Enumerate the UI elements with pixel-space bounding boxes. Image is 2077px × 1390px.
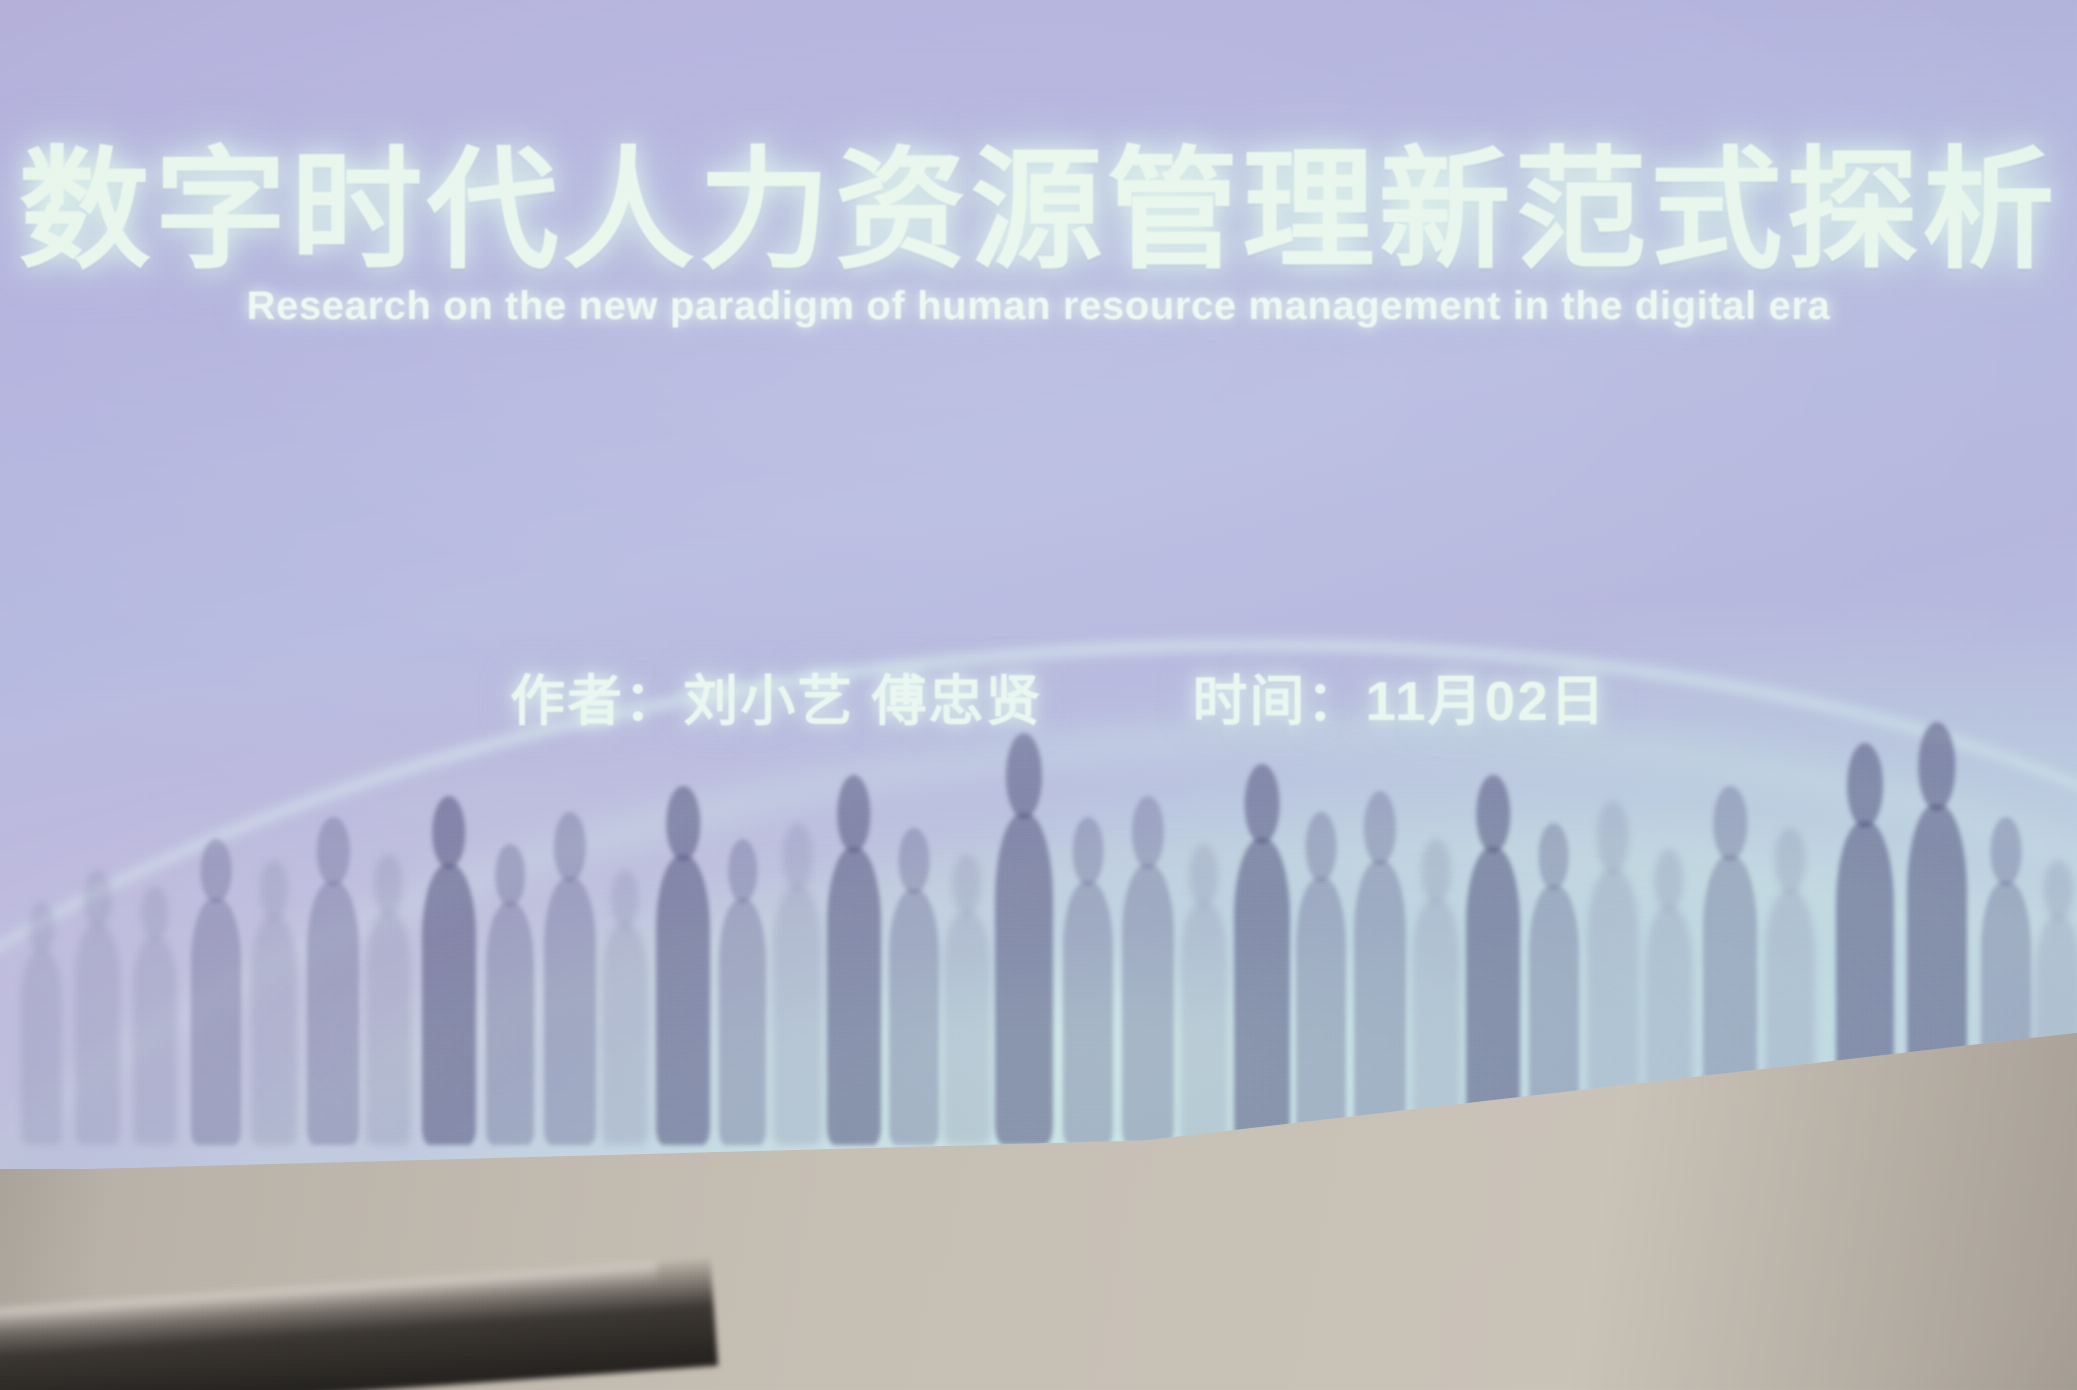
crowd-person (995, 813, 1053, 1146)
crowd-person (656, 855, 710, 1145)
crowd-person (133, 936, 177, 1145)
date-line: 时间：11月02日 (1192, 656, 1606, 736)
crowd-person (1180, 902, 1228, 1145)
crowd-person (251, 915, 297, 1145)
crowd-person (889, 889, 939, 1145)
projection-screen: 数字时代人力资源管理新范式探析 Research on the new para… (0, 0, 2077, 1169)
crowd-person (544, 877, 596, 1146)
slide-title: 数字时代人力资源管理新范式探析 (0, 142, 2077, 279)
author-names: 刘小艺 傅忠贤 (683, 670, 1042, 732)
crowd-person (1354, 860, 1406, 1146)
slide-subtitle: Research on the new paradigm of human re… (0, 284, 2077, 329)
date-value: 11月02日 (1365, 670, 1606, 732)
crowd-person (191, 898, 241, 1145)
crowd-person (1234, 838, 1290, 1145)
author-line: 作者：刘小艺 傅忠贤 (510, 656, 1042, 736)
crowd-person (773, 885, 823, 1145)
slide-photograph: 数字时代人力资源管理新范式探析 Research on the new para… (0, 0, 2077, 1390)
crowd-person (602, 923, 648, 1145)
crowd-person (307, 881, 359, 1145)
crowd-person (1296, 877, 1346, 1146)
crowd-person (75, 923, 121, 1145)
crowd-person (1063, 881, 1113, 1145)
crowd-person (719, 898, 767, 1145)
date-label: 时间： (1192, 670, 1363, 732)
crowd-person (21, 949, 63, 1145)
crowd-person (1122, 864, 1174, 1146)
presentation-slide: 数字时代人力资源管理新范式探析 Research on the new para… (0, 0, 2077, 1169)
crowd-person (827, 847, 881, 1146)
crowd-person (422, 864, 476, 1146)
author-label: 作者： (510, 670, 681, 732)
crowd-person (366, 911, 412, 1146)
crowd-person (943, 911, 991, 1146)
crowd-person (486, 902, 534, 1145)
slide-meta-row: 作者：刘小艺 傅忠贤 时间：11月02日 (0, 656, 2077, 736)
